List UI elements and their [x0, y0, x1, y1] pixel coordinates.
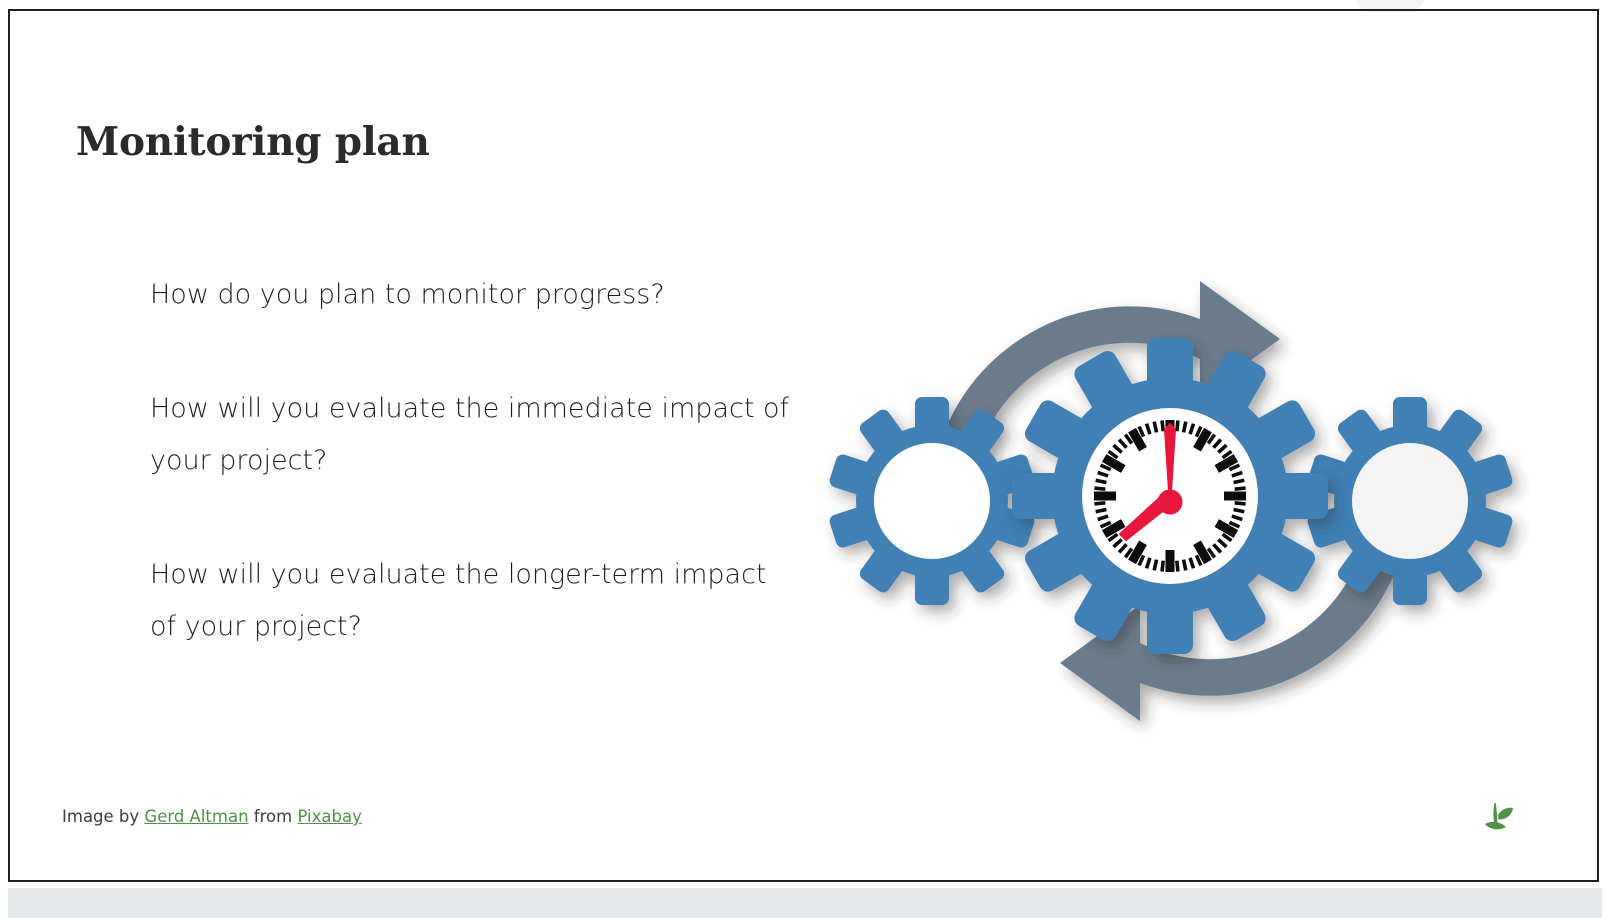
- bullet-list: How do you plan to monitor progress? How…: [150, 269, 790, 653]
- bottom-page-strip: [8, 888, 1602, 918]
- page-title: Monitoring plan: [76, 119, 430, 165]
- attribution-middle: from: [249, 807, 298, 826]
- attribution-prefix: Image by: [62, 807, 144, 826]
- gears-clock-illustration: [810, 211, 1530, 791]
- image-attribution: Image by Gerd Altman from Pixabay: [62, 807, 362, 826]
- bullet-item-2: How will you evaluate the immediate impa…: [150, 383, 790, 487]
- bullet-item-1: How do you plan to monitor progress?: [150, 269, 790, 321]
- left-gear: [828, 397, 1036, 605]
- right-gear: [1306, 397, 1514, 605]
- presentation-slide: Monitoring plan How do you plan to monit…: [8, 9, 1599, 882]
- green-sprout-logo: [1472, 793, 1520, 841]
- clock-face: [1082, 408, 1258, 584]
- bullet-item-3: How will you evaluate the longer-term im…: [150, 549, 790, 653]
- slide-viewport: Monitoring plan How do you plan to monit…: [0, 0, 1610, 918]
- center-gear: [1012, 338, 1328, 654]
- attribution-author-link[interactable]: Gerd Altman: [144, 807, 248, 826]
- attribution-source-link[interactable]: Pixabay: [297, 807, 361, 826]
